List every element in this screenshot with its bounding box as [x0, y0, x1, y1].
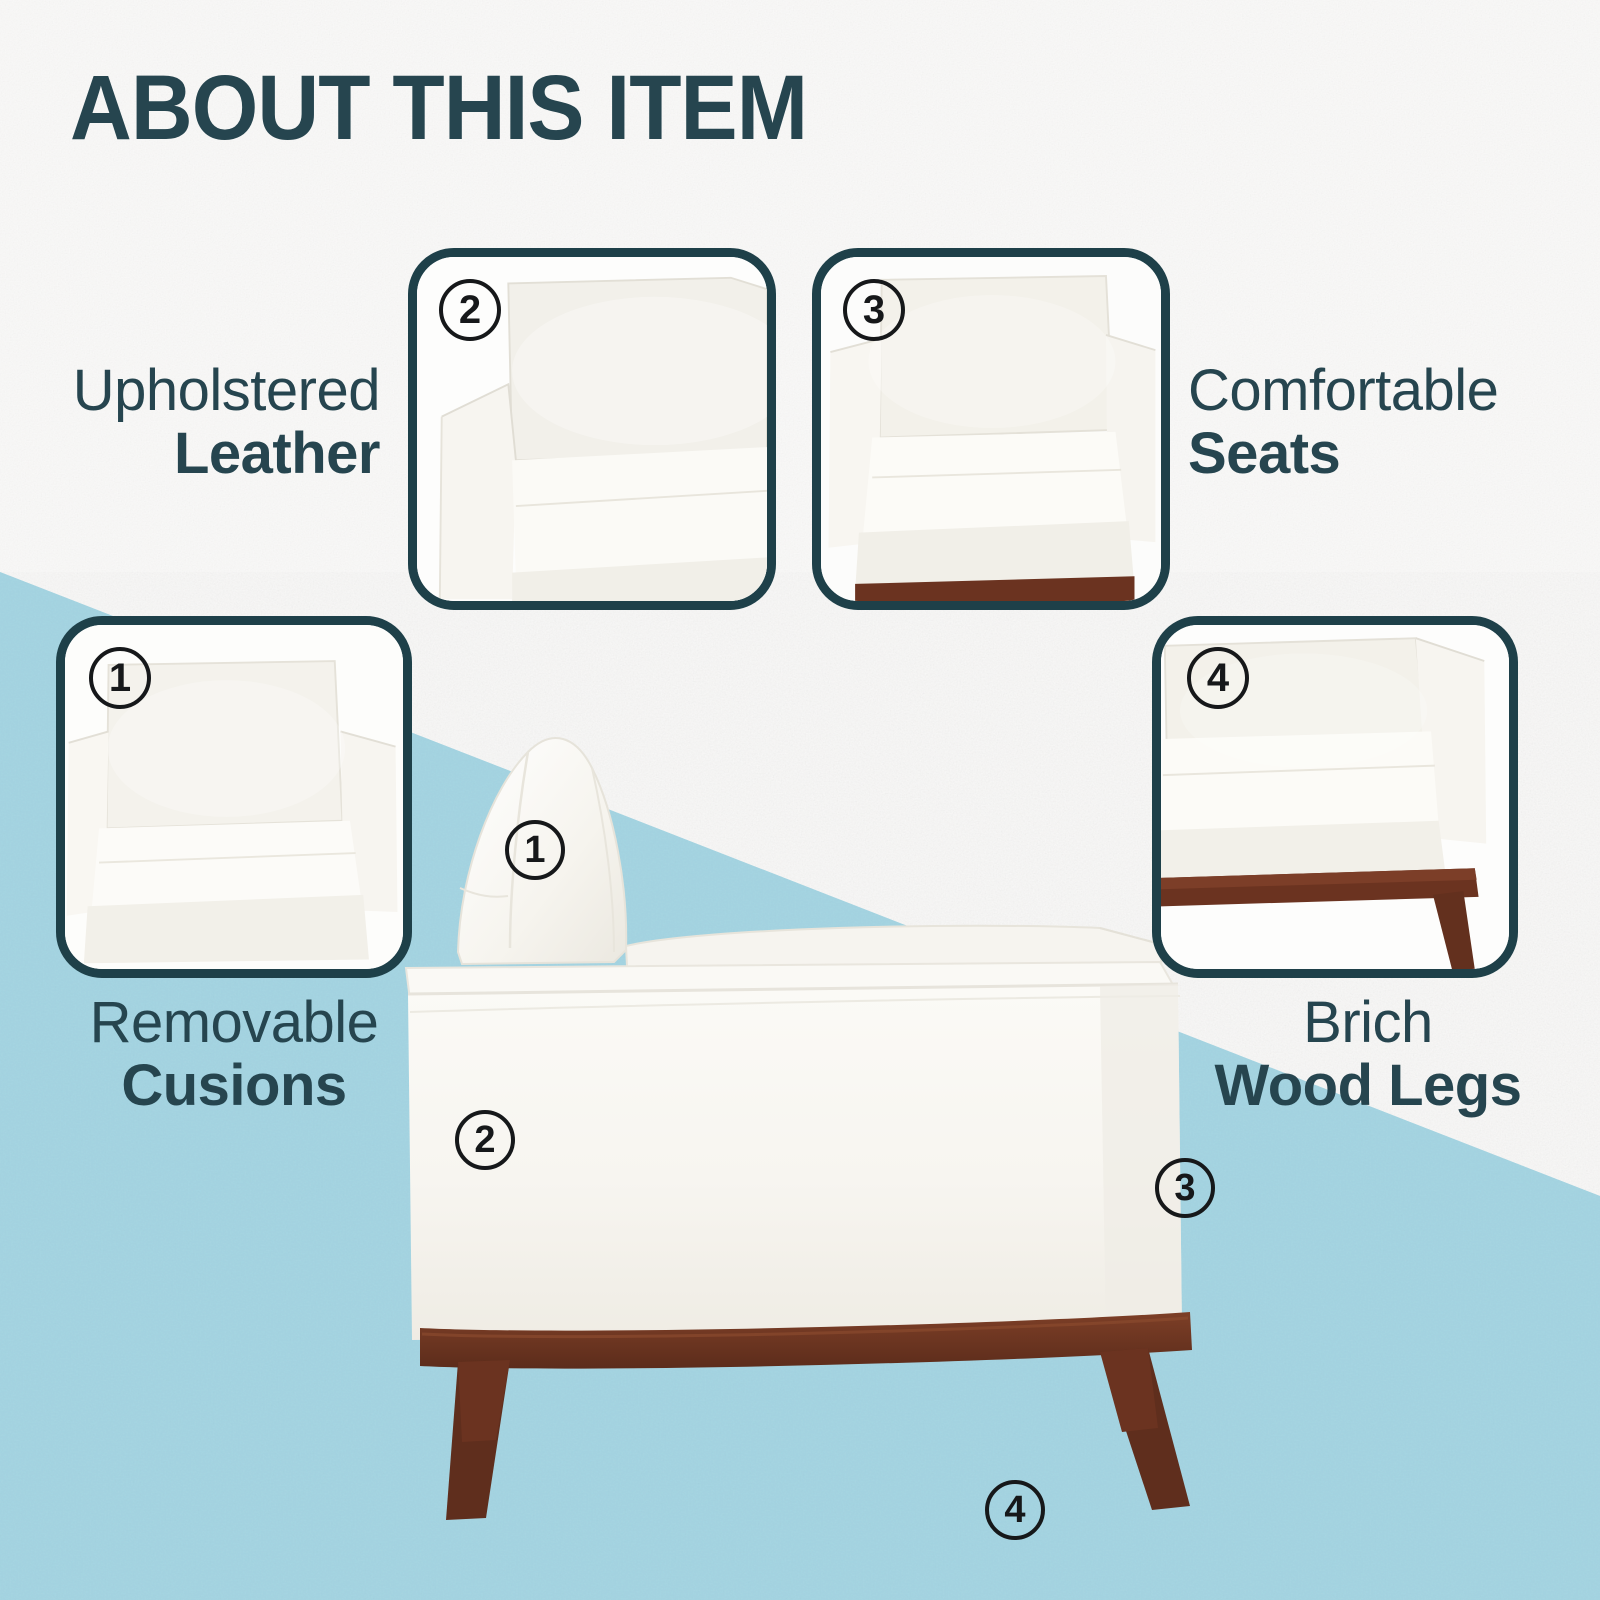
- page-title: ABOUT THIS ITEM: [70, 62, 807, 154]
- label-line-2: Leather: [20, 423, 380, 486]
- feature-card-upholstered-leather[interactable]: 2: [408, 248, 776, 610]
- badge-4: 4: [1187, 647, 1249, 709]
- hero-badge-2: 2: [455, 1110, 515, 1170]
- feature-label-birch-wood-legs: Brich Wood Legs: [1168, 992, 1568, 1117]
- badge-3: 3: [843, 279, 905, 341]
- feature-card-birch-wood-legs[interactable]: 4: [1152, 616, 1518, 978]
- label-line-1: Comfortable: [1188, 360, 1588, 423]
- hero-badge-3: 3: [1155, 1158, 1215, 1218]
- label-line-2: Cusions: [44, 1055, 424, 1118]
- feature-label-removable-cushions: Removable Cusions: [44, 992, 424, 1117]
- badge-1: 1: [89, 647, 151, 709]
- feature-label-upholstered-leather: Upholstered Leather: [20, 360, 380, 485]
- badge-2: 2: [439, 279, 501, 341]
- label-line-2: Seats: [1188, 423, 1588, 486]
- feature-card-comfortable-seats[interactable]: 3: [812, 248, 1170, 610]
- hero-badge-4: 4: [985, 1480, 1045, 1540]
- feature-label-comfortable-seats: Comfortable Seats: [1188, 360, 1588, 485]
- feature-card-removable-cushions[interactable]: 1: [56, 616, 412, 978]
- label-line-2: Wood Legs: [1168, 1055, 1568, 1118]
- label-line-1: Upholstered: [20, 360, 380, 423]
- label-line-1: Brich: [1168, 992, 1568, 1055]
- hero-badge-1: 1: [505, 820, 565, 880]
- label-line-1: Removable: [44, 992, 424, 1055]
